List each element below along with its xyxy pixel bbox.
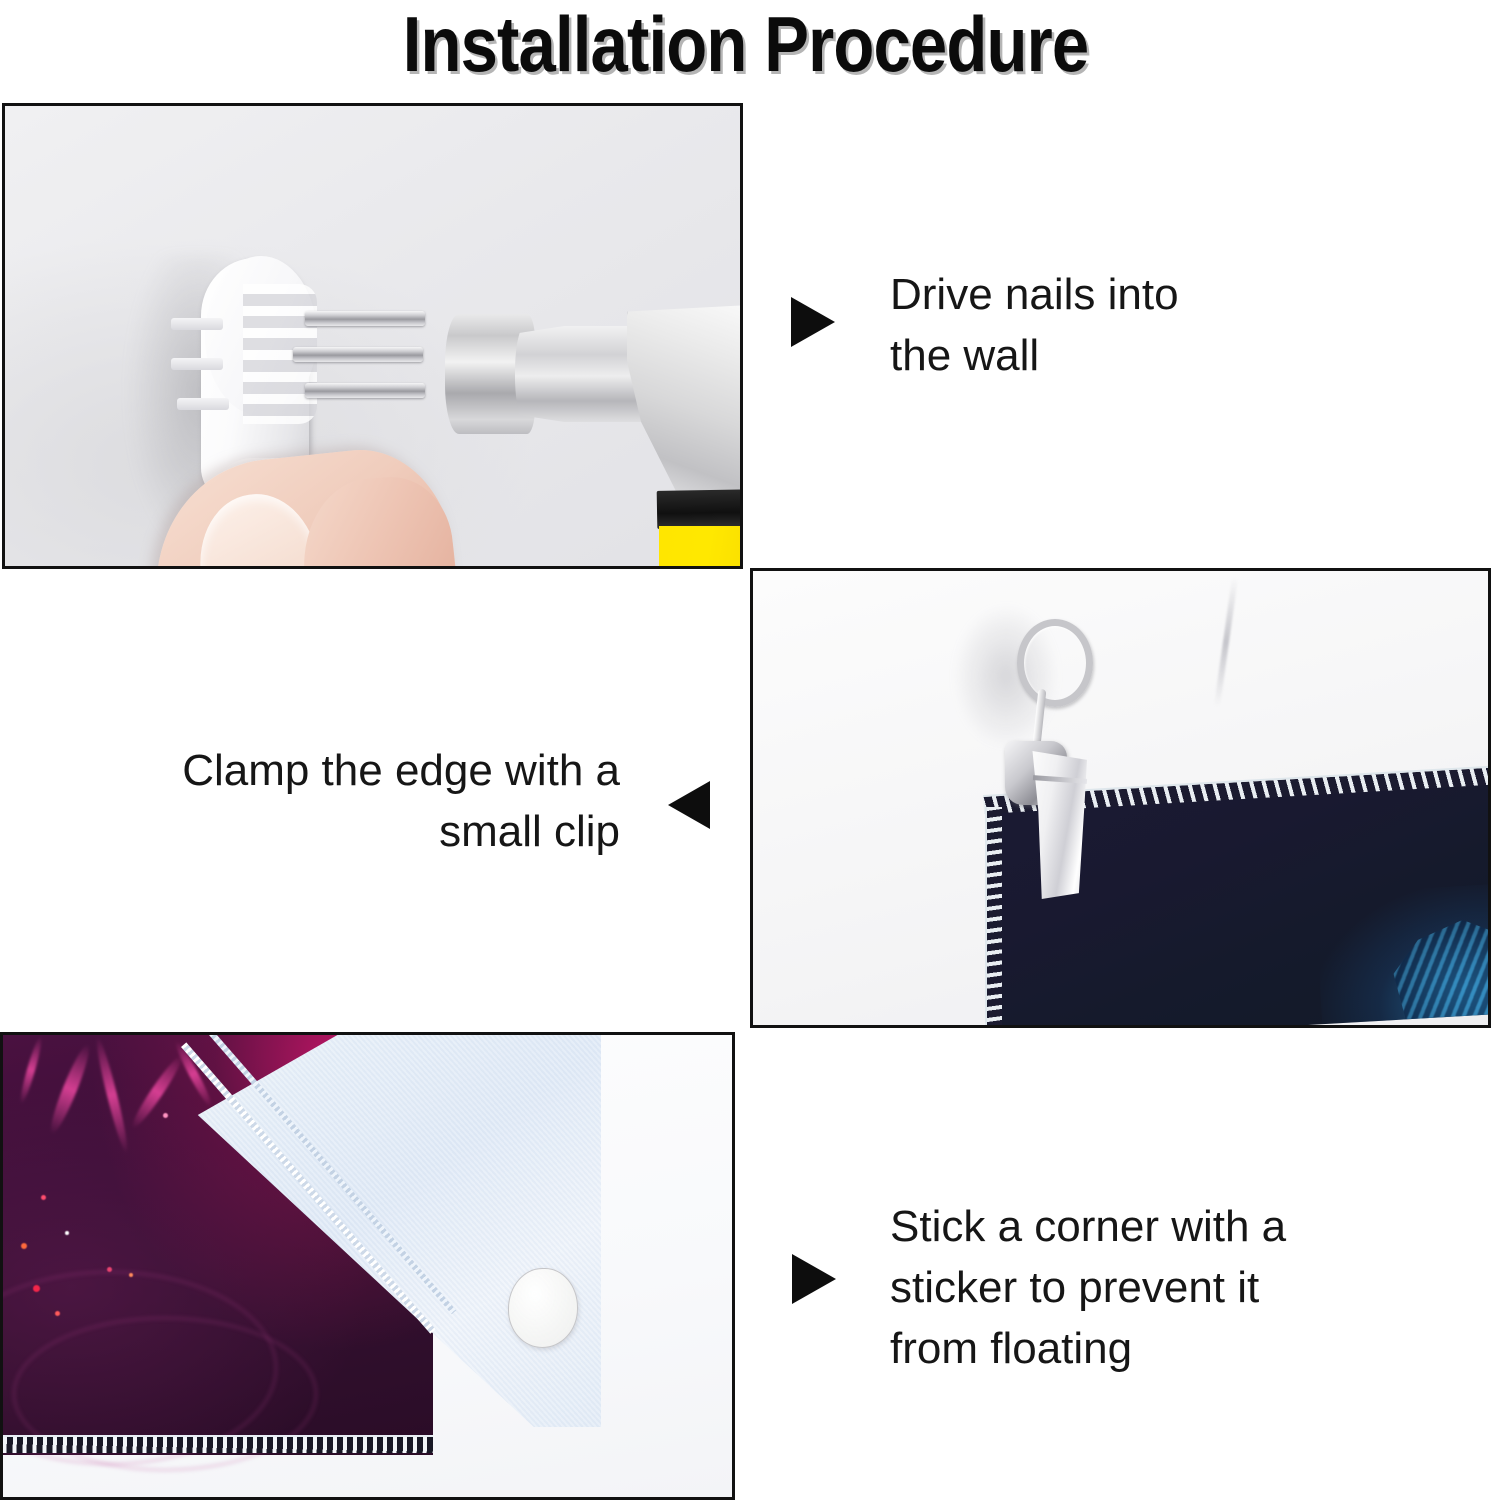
wall-hook-tab <box>171 318 223 330</box>
tapestry-spark <box>65 1231 69 1235</box>
tapestry-bottom-stitching <box>3 1435 433 1453</box>
tapestry-spark <box>41 1195 46 1200</box>
triangle-left-icon <box>668 781 710 829</box>
step-2-caption: Clamp the edge with a small clip <box>60 740 620 862</box>
hammer-neck <box>515 326 645 422</box>
tapestry-spark <box>129 1273 133 1277</box>
nail-icon <box>305 311 425 326</box>
page-title: Installation Procedure <box>104 0 1386 92</box>
nail-icon <box>293 347 423 362</box>
hammer-head <box>627 304 743 494</box>
wall-hook-tab <box>171 358 223 370</box>
step-1-photo <box>2 103 743 569</box>
spring-clip <box>991 619 1111 919</box>
step-3-photo-scene <box>3 1035 732 1497</box>
tapestry-streak <box>46 1042 95 1136</box>
triangle-right-icon <box>792 1254 836 1304</box>
hammer-ferrule <box>657 489 743 529</box>
step-3-photo <box>0 1032 735 1500</box>
tapestry-streak <box>93 1036 132 1155</box>
tapestry-spark <box>55 1311 60 1316</box>
nail-icon <box>305 383 425 398</box>
wall-hook-tab <box>177 398 229 410</box>
tapestry-spark <box>21 1243 27 1249</box>
tapestry-streak <box>128 1053 186 1131</box>
tapestry-spark <box>107 1267 112 1272</box>
adhesive-sticker <box>508 1268 578 1348</box>
step-2-photo-scene <box>753 571 1488 1025</box>
tapestry-streak <box>18 1035 45 1104</box>
hammer-handle <box>659 526 743 569</box>
step-3-caption: Stick a corner with a sticker to prevent… <box>890 1196 1380 1379</box>
clip-jaw <box>1029 751 1087 899</box>
triangle-right-icon <box>791 297 835 347</box>
step-1-caption: Drive nails into the wall <box>890 264 1310 386</box>
hammer <box>445 296 743 556</box>
tapestry-spark <box>33 1285 40 1292</box>
clip-ring-icon <box>1017 619 1093 707</box>
step-1-photo-scene <box>5 106 740 566</box>
step-2-photo <box>750 568 1491 1028</box>
tapestry-spark <box>163 1113 168 1118</box>
